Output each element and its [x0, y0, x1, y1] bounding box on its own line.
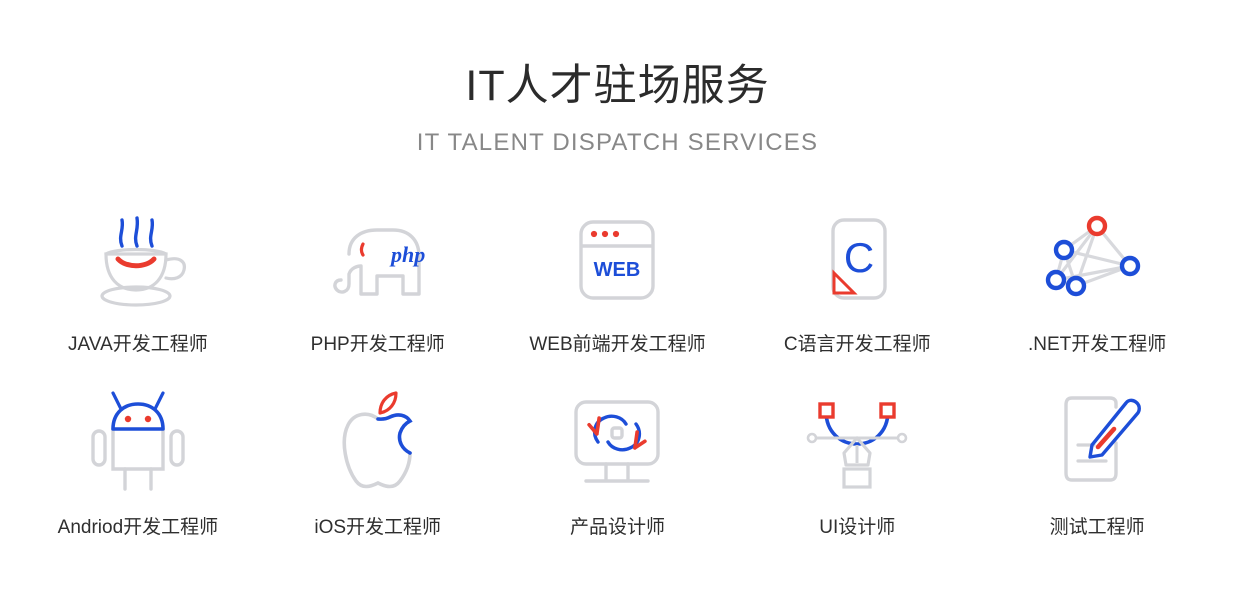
php-elephant-icon: php [318, 204, 438, 316]
page-header: IT人才驻场服务 IT TALENT DISPATCH SERVICES [0, 0, 1235, 158]
network-nodes-icon [1037, 204, 1157, 316]
page-root: IT人才驻场服务 IT TALENT DISPATCH SERVICES [0, 0, 1235, 612]
service-item-ios[interactable]: iOS开发工程师 [258, 385, 498, 566]
service-item-java[interactable]: JAVA开发工程师 [18, 204, 258, 385]
android-robot-icon [78, 385, 198, 501]
document-pencil-icon [1037, 385, 1157, 501]
service-label: .NET开发工程师 [1028, 332, 1166, 358]
service-label: UI设计师 [819, 515, 895, 541]
service-item-ui[interactable]: UI设计师 [737, 385, 977, 566]
service-item-product[interactable]: 产品设计师 [498, 385, 738, 566]
c-badge-text: C [844, 234, 874, 281]
page-title: IT人才驻场服务 [0, 58, 1235, 114]
service-item-android[interactable]: Andriod开发工程师 [18, 385, 258, 566]
service-item-test[interactable]: 测试工程师 [977, 385, 1217, 566]
browser-window-icon: WEB [557, 204, 677, 316]
php-badge-text: php [389, 242, 425, 267]
service-label: WEB前端开发工程师 [529, 332, 705, 358]
service-item-php[interactable]: php PHP开发工程师 [258, 204, 498, 385]
service-grid: JAVA开发工程师 php PHP开发工程师 [0, 204, 1235, 566]
service-item-dotnet[interactable]: .NET开发工程师 [977, 204, 1217, 385]
service-label: PHP开发工程师 [311, 332, 445, 358]
bezier-pen-icon [797, 385, 917, 501]
apple-logo-icon [318, 385, 438, 501]
service-label: iOS开发工程师 [314, 515, 441, 541]
monitor-refresh-icon [557, 385, 677, 501]
page-subtitle: IT TALENT DISPATCH SERVICES [0, 128, 1235, 158]
service-item-clang[interactable]: C C语言开发工程师 [737, 204, 977, 385]
web-badge-text: WEB [594, 259, 641, 281]
service-label: 产品设计师 [570, 515, 665, 541]
c-document-icon: C [797, 204, 917, 316]
coffee-cup-icon [78, 204, 198, 316]
service-label: Andriod开发工程师 [58, 515, 219, 541]
service-label: C语言开发工程师 [784, 332, 931, 358]
service-label: JAVA开发工程师 [68, 332, 208, 358]
service-item-web[interactable]: WEB WEB前端开发工程师 [498, 204, 738, 385]
service-label: 测试工程师 [1050, 515, 1145, 541]
